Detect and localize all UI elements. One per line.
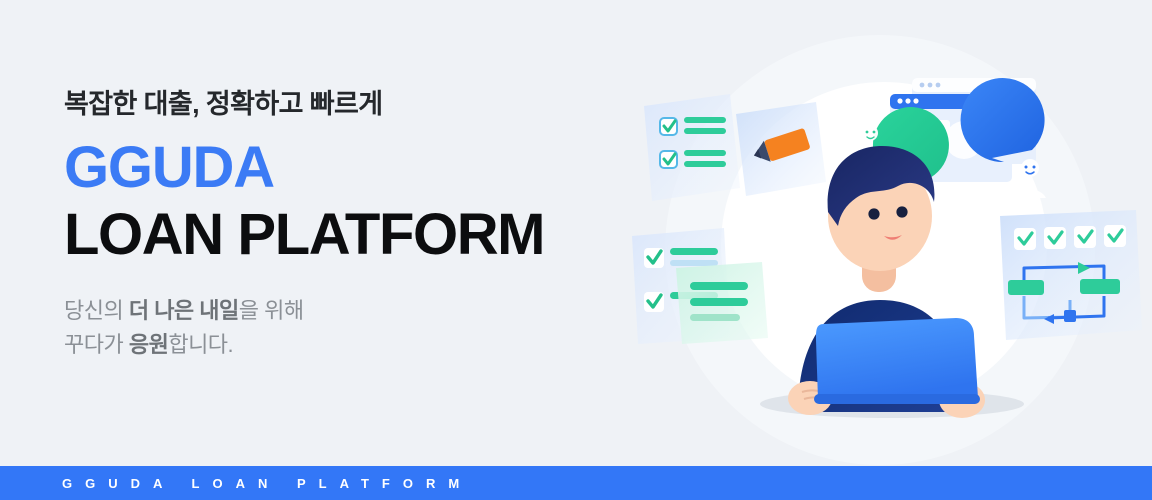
checklist-card-top-left (644, 94, 740, 201)
hero-tagline-line-2: 꾸다가 응원합니다. (64, 328, 624, 362)
flowchart-card-right (1000, 210, 1142, 340)
pencil-note-card (736, 102, 826, 196)
mint-note-card (676, 262, 768, 344)
person-eye-left (868, 208, 879, 219)
hero-tagline: 당신의 더 나은 내일을 위해 꾸다가 응원합니다. (64, 294, 624, 362)
tagline-1-pre: 당신의 (64, 298, 129, 323)
hero-brand-title: GGUDA (64, 138, 624, 199)
hero-illustration (612, 0, 1152, 466)
hero-tagline-line-1: 당신의 더 나은 내일을 위해 (64, 294, 624, 328)
tagline-2-bold: 응원 (129, 332, 168, 357)
person-eye-right (896, 206, 907, 217)
tagline-1-bold: 더 나은 내일 (129, 298, 239, 323)
laptop (814, 318, 980, 404)
hero-copy-block: 복잡한 대출, 정확하고 빠르게 GGUDA LOAN PLATFORM 당신의… (64, 88, 624, 362)
tagline-2-post: 합니다. (168, 332, 233, 357)
hero-banner: 복잡한 대출, 정확하고 빠르게 GGUDA LOAN PLATFORM 당신의… (0, 0, 1152, 500)
bottom-marquee-banner: GGUDA LOAN PLATFORM (0, 466, 1152, 500)
tagline-2-pre: 꾸다가 (64, 332, 129, 357)
tagline-1-post: 을 위해 (239, 298, 304, 323)
banner-text: GGUDA LOAN PLATFORM (0, 476, 472, 491)
hero-product-title: LOAN PLATFORM (64, 205, 624, 266)
hero-eyebrow: 복잡한 대출, 정확하고 빠르게 (64, 88, 624, 122)
